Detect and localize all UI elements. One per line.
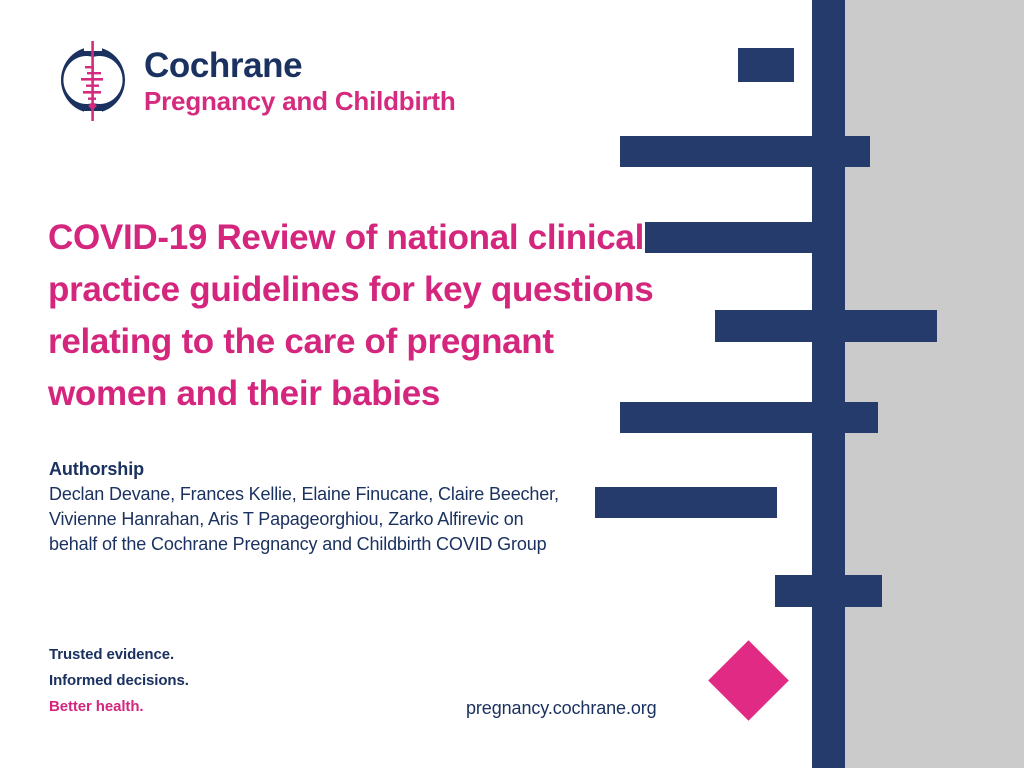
page-title: COVID-19 Review of national clinical pra… bbox=[48, 212, 658, 420]
tagline-trusted-evidence: Trusted evidence. bbox=[49, 642, 189, 668]
authorship-block: Authorship Declan Devane, Frances Kellie… bbox=[49, 456, 569, 557]
tagline-better-health: Better health. bbox=[49, 694, 189, 720]
forest-plot-diamond bbox=[708, 640, 789, 721]
gray-panel bbox=[845, 0, 1024, 768]
forest-plot-bar bbox=[620, 136, 870, 167]
slide-canvas: Cochrane Pregnancy and Childbirth COVID-… bbox=[0, 0, 1024, 768]
logo-name-group: Pregnancy and Childbirth bbox=[144, 88, 456, 114]
brand-tagline: Trusted evidence. Informed decisions. Be… bbox=[49, 642, 189, 720]
forest-plot-bar bbox=[738, 48, 794, 82]
forest-plot-bar bbox=[645, 222, 842, 253]
forest-plot-bar bbox=[620, 402, 878, 433]
authorship-names: Declan Devane, Frances Kellie, Elaine Fi… bbox=[49, 482, 569, 557]
forest-plot-bar bbox=[715, 310, 937, 342]
website-url[interactable]: pregnancy.cochrane.org bbox=[466, 698, 657, 719]
forest-plot-bar bbox=[775, 575, 882, 607]
authorship-heading: Authorship bbox=[49, 456, 569, 482]
cochrane-logo-wordmark: Cochrane Pregnancy and Childbirth bbox=[144, 48, 456, 114]
cochrane-logo: Cochrane Pregnancy and Childbirth bbox=[56, 41, 456, 121]
forest-plot-spine bbox=[812, 0, 845, 768]
tagline-informed-decisions: Informed decisions. bbox=[49, 668, 189, 694]
logo-name-cochrane: Cochrane bbox=[144, 48, 456, 83]
forest-plot-bar bbox=[595, 487, 777, 518]
cochrane-forest-plot-circle-icon bbox=[56, 41, 130, 121]
